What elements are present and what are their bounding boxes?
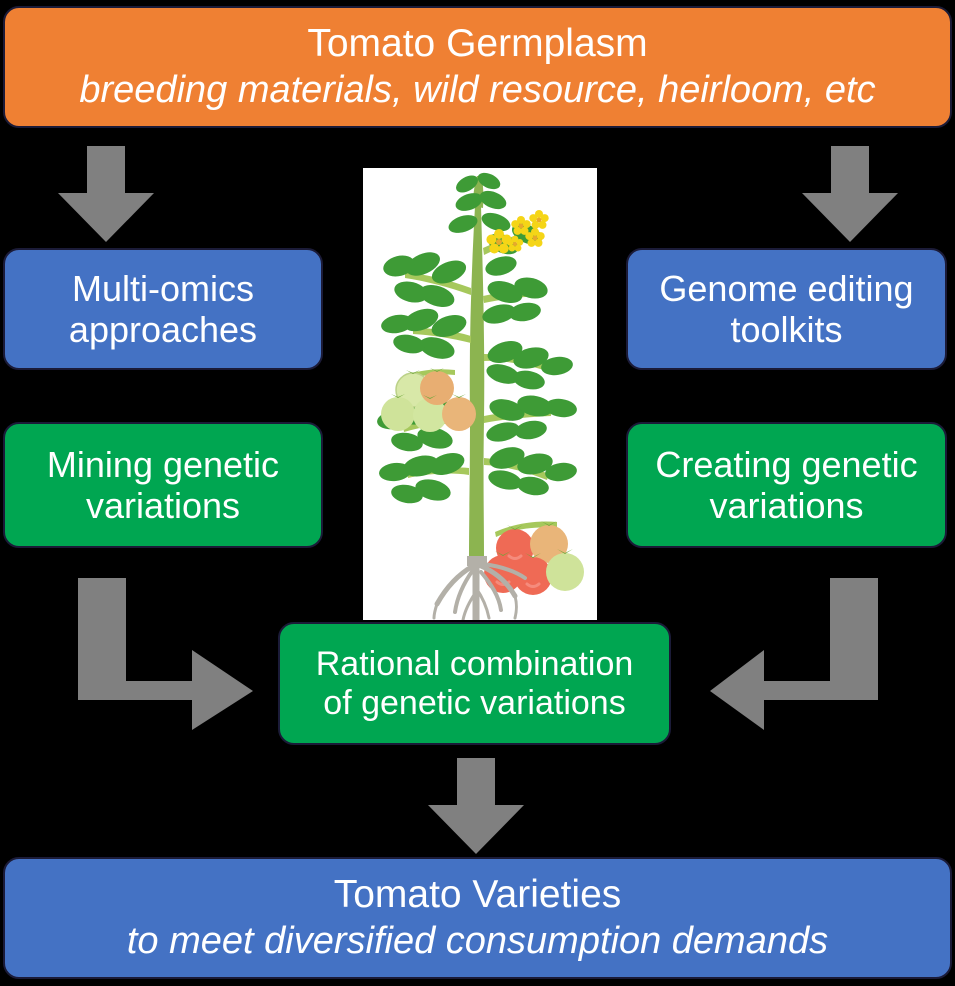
mining-line-2: variations (86, 485, 240, 526)
arrow-mining-to-rational (78, 578, 253, 730)
rational-line-1: Rational combination (316, 645, 634, 684)
rational-line-2: of genetic variations (323, 684, 625, 723)
node-multi-omics-approaches[interactable]: Multi-omics approaches (3, 248, 323, 370)
tomato-plant-panel (363, 168, 597, 620)
arrow-rational-to-varieties (428, 758, 524, 854)
mining-line-1: Mining genetic (47, 444, 279, 485)
node-tomato-varieties[interactable]: Tomato Varieties to meet diversified con… (3, 857, 952, 979)
fruit-cluster-ripe (484, 521, 584, 595)
node-tomato-germplasm[interactable]: Tomato Germplasm breeding materials, wil… (3, 6, 952, 128)
varieties-subtitle: to meet diversified consumption demands (127, 920, 828, 963)
multi-omics-line-2: approaches (69, 309, 257, 350)
node-creating-genetic-variations[interactable]: Creating genetic variations (626, 422, 947, 548)
arrow-germplasm-to-genome-editing (802, 146, 898, 242)
tomato-plant-illustration (363, 168, 597, 620)
genome-editing-line-2: toolkits (730, 309, 842, 350)
germplasm-subtitle: breeding materials, wild resource, heirl… (79, 69, 875, 112)
arrow-germplasm-to-multiomics (58, 146, 154, 242)
node-mining-genetic-variations[interactable]: Mining genetic variations (3, 422, 323, 548)
node-rational-combination[interactable]: Rational combination of genetic variatio… (278, 622, 671, 745)
varieties-title: Tomato Varieties (334, 873, 622, 917)
fruit-cluster-unripe (381, 368, 476, 432)
multi-omics-line-1: Multi-omics (72, 268, 254, 309)
node-genome-editing-toolkits[interactable]: Genome editing toolkits (626, 248, 947, 370)
germplasm-title: Tomato Germplasm (307, 22, 647, 66)
creating-line-2: variations (709, 485, 863, 526)
diagram-canvas: Tomato Germplasm breeding materials, wil… (0, 0, 955, 986)
arrow-creating-to-rational (710, 578, 878, 730)
genome-editing-line-1: Genome editing (659, 268, 913, 309)
creating-line-1: Creating genetic (655, 444, 917, 485)
